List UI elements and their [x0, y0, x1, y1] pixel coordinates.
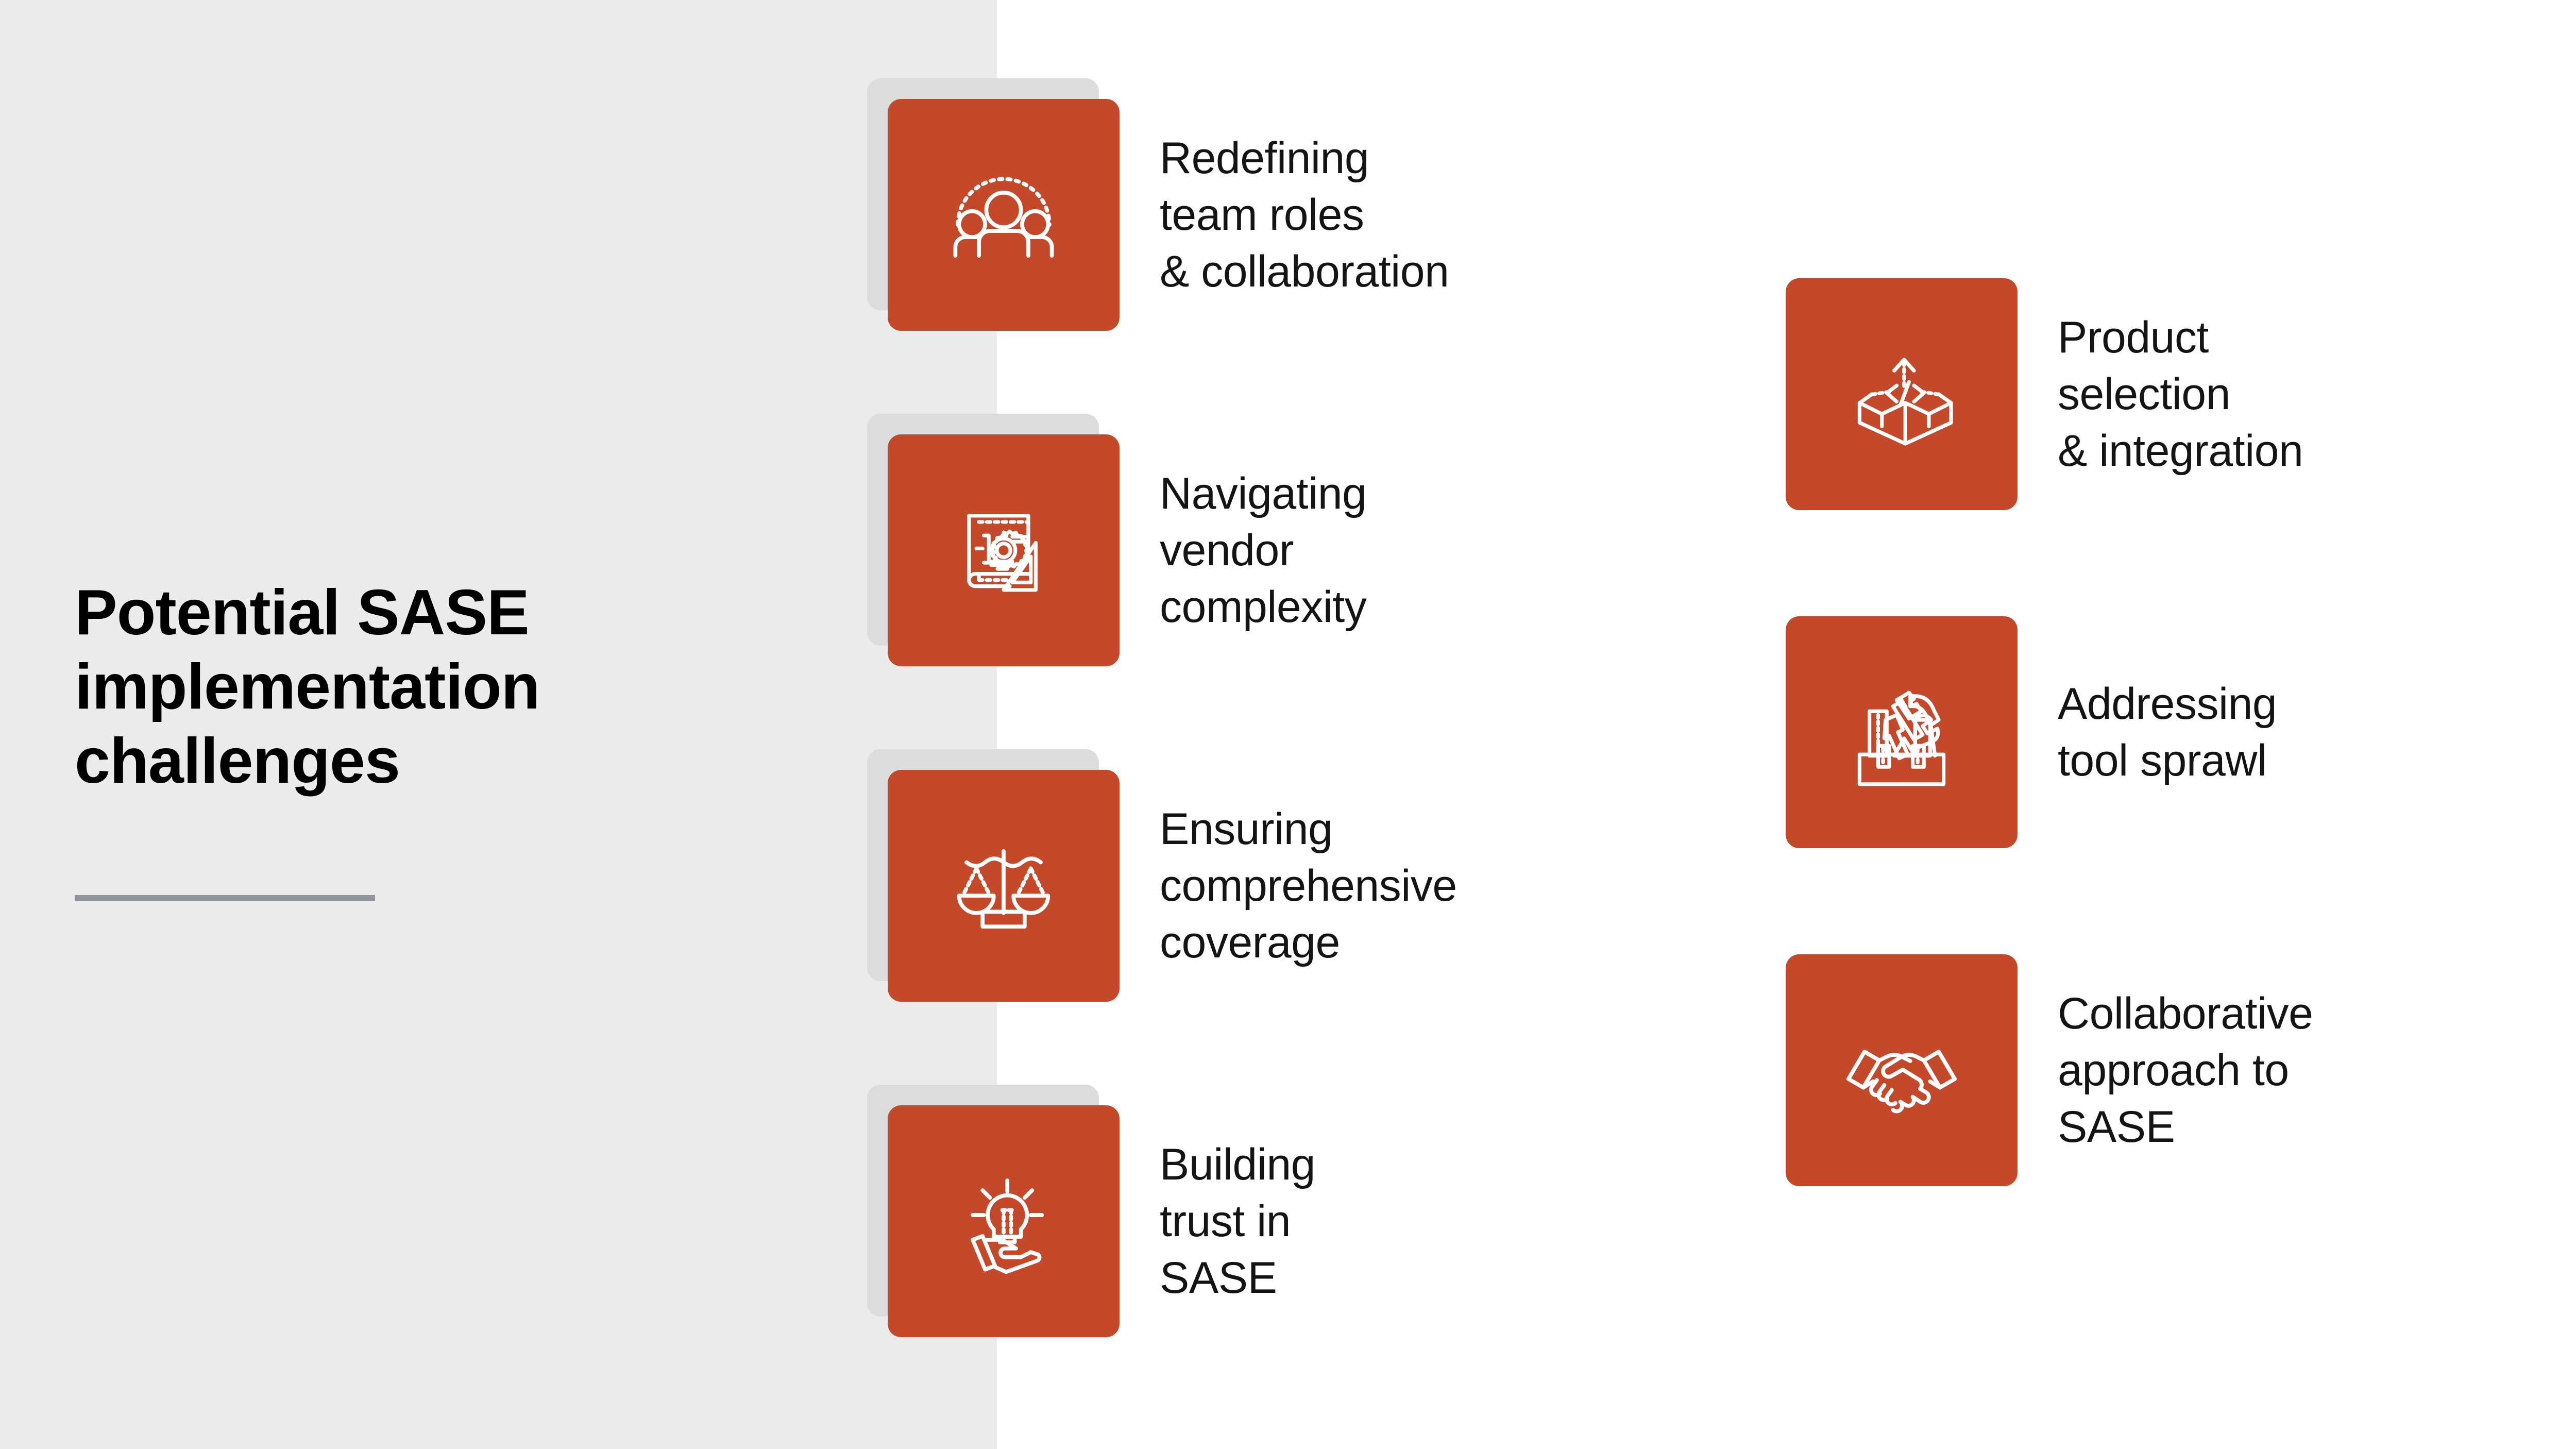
people-group-icon: [942, 153, 1065, 277]
icon-tile-wrap: [1786, 616, 2018, 848]
balance-scales-icon: [942, 824, 1065, 948]
icon-tile[interactable]: [888, 770, 1120, 1002]
icon-tile-wrap: [888, 99, 1120, 331]
list-item-building-trust-in-sase[interactable]: Building trust in SASE: [888, 1105, 1315, 1337]
icon-tile-wrap: [1786, 954, 2018, 1186]
list-item-label: Product selection & integration: [2058, 309, 2303, 479]
icon-tile[interactable]: [1786, 954, 2018, 1186]
blueprint-gear-icon: [942, 488, 1065, 612]
list-item-ensuring-comprehensive-coverage[interactable]: Ensuring comprehensive coverage: [888, 770, 1457, 1002]
icon-tile[interactable]: [888, 99, 1120, 331]
list-item-addressing-tool-sprawl[interactable]: Addressing tool sprawl: [1786, 616, 2277, 848]
icon-tile-wrap: [1786, 278, 2018, 510]
list-item-label: Ensuring comprehensive coverage: [1160, 801, 1457, 971]
icon-tile-wrap: [888, 434, 1120, 666]
list-item-label: Navigating vendor complexity: [1160, 465, 1366, 635]
icon-tile[interactable]: [1786, 616, 2018, 848]
title-divider: [75, 895, 375, 901]
list-item-redefining-team-roles[interactable]: Redefining team roles & collaboration: [888, 99, 1449, 331]
icon-tile[interactable]: [888, 1105, 1120, 1337]
list-item-label: Collaborative approach to SASE: [2058, 985, 2313, 1155]
list-item-product-selection-integration[interactable]: Product selection & integration: [1786, 278, 2303, 510]
open-box-code-icon: [1840, 332, 1963, 456]
icon-tile[interactable]: [1786, 278, 2018, 510]
list-item-navigating-vendor-complexity[interactable]: Navigating vendor complexity: [888, 434, 1366, 666]
list-item-collaborative-approach-to-sase[interactable]: Collaborative approach to SASE: [1786, 954, 2313, 1186]
list-item-label: Building trust in SASE: [1160, 1136, 1315, 1306]
list-item-label: Redefining team roles & collaboration: [1160, 130, 1449, 300]
lightbulb-in-hand-icon: [942, 1159, 1065, 1283]
toolbox-icon: [1840, 670, 1963, 794]
icon-tile-wrap: [888, 770, 1120, 1002]
handshake-icon: [1840, 1008, 1963, 1132]
page-title: Potential SASE implementation challenges: [75, 576, 693, 798]
icon-tile[interactable]: [888, 434, 1120, 666]
list-item-label: Addressing tool sprawl: [2058, 676, 2277, 789]
icon-tile-wrap: [888, 1105, 1120, 1337]
title-block: Potential SASE implementation challenges: [75, 576, 693, 798]
